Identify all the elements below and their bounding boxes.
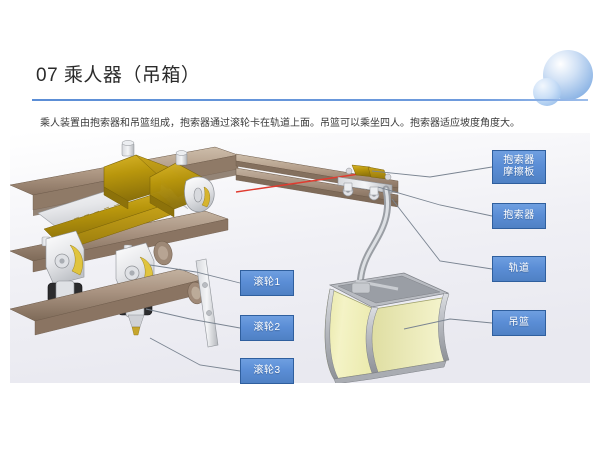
- grip-pin-b: [385, 174, 391, 180]
- grip-jaw-hole: [194, 188, 202, 202]
- large-decorative-circle: [543, 50, 593, 100]
- slide-root: 07 乘人器（吊箱） 乘人装置由抱索器和吊篮组成，抱索器通过滚轮卡在轨道上面。吊…: [0, 0, 600, 450]
- callout-roller-1-label: 滚轮1: [253, 277, 280, 289]
- callout-rail[interactable]: 轨道: [492, 256, 546, 282]
- callout-friction-plate-line2: 摩擦板: [503, 167, 535, 179]
- small-decorative-circle: [533, 78, 561, 106]
- decorative-circles: [525, 40, 600, 106]
- callout-roller-2-label: 滚轮2: [253, 322, 280, 334]
- bolt-head-left: [122, 141, 134, 157]
- callout-grip[interactable]: 抱索器: [492, 203, 546, 229]
- cabin-body-side: [368, 297, 448, 373]
- title-divider: [32, 99, 588, 101]
- callout-roller-3-label: 滚轮3: [253, 365, 280, 377]
- callout-rail-label: 轨道: [509, 263, 530, 275]
- grip-pin-a: [346, 168, 352, 174]
- callout-cabin-label: 吊篮: [509, 317, 530, 329]
- callout-roller-3[interactable]: 滚轮3: [240, 358, 294, 384]
- callout-roller-1[interactable]: 滚轮1: [240, 270, 294, 296]
- callout-roller-2[interactable]: 滚轮2: [240, 315, 294, 341]
- hanger-joint: [352, 283, 370, 293]
- callout-cabin[interactable]: 吊篮: [492, 310, 546, 336]
- page-title: 07 乘人器（吊箱）: [36, 60, 200, 87]
- callout-grip-label: 抱索器: [503, 210, 535, 222]
- callout-friction-plate[interactable]: 抱索器 摩擦板: [492, 150, 546, 184]
- bolt-head-right: [176, 151, 187, 165]
- slide-subtitle: 乘人装置由抱索器和吊篮组成，抱索器通过滚轮卡在轨道上面。吊篮可以乘坐四人。抱索器…: [40, 117, 570, 131]
- callout-friction-plate-line1: 抱索器: [503, 155, 535, 167]
